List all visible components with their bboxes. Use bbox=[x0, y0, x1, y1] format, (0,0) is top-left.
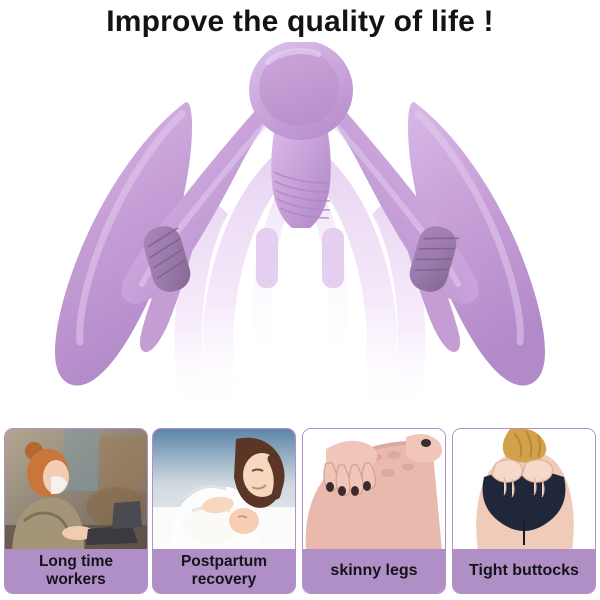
card-label-postpartum-recovery: Postpartum recovery bbox=[153, 549, 295, 593]
card-label-line-2: recovery bbox=[181, 571, 267, 589]
photo-hands-pinching-thigh-cellulite bbox=[303, 429, 445, 551]
product-circular-pad bbox=[249, 42, 353, 140]
product-illustration bbox=[0, 42, 600, 424]
benefit-card-skinny-legs[interactable]: skinny legs bbox=[302, 428, 446, 594]
card-label-long-time-workers: Long time workers bbox=[5, 549, 147, 593]
photo-mother-with-newborn-baby bbox=[153, 429, 295, 551]
benefit-card-tight-buttocks[interactable]: Tight buttocks bbox=[452, 428, 596, 594]
card-label-skinny-legs: skinny legs bbox=[303, 549, 445, 593]
benefit-cards-row: Long time workers bbox=[0, 428, 600, 596]
card-label-line-2: workers bbox=[39, 571, 113, 589]
benefit-card-long-time-workers[interactable]: Long time workers bbox=[4, 428, 148, 594]
card-label-line-1: Long time bbox=[39, 553, 113, 571]
page-title: Improve the quality of life ! bbox=[0, 4, 600, 40]
photo-woman-hands-on-hips-rear-view bbox=[453, 429, 595, 551]
card-label-line-1: Tight buttocks bbox=[469, 562, 579, 580]
card-label-line-1: skinny legs bbox=[330, 562, 417, 580]
card-label-tight-buttocks: Tight buttocks bbox=[453, 549, 595, 593]
card-label-line-1: Postpartum bbox=[181, 553, 267, 571]
photo-woman-at-desk-with-laptop bbox=[5, 429, 147, 551]
benefit-card-postpartum-recovery[interactable]: Postpartum recovery bbox=[152, 428, 296, 594]
product-hero-image bbox=[0, 42, 600, 424]
